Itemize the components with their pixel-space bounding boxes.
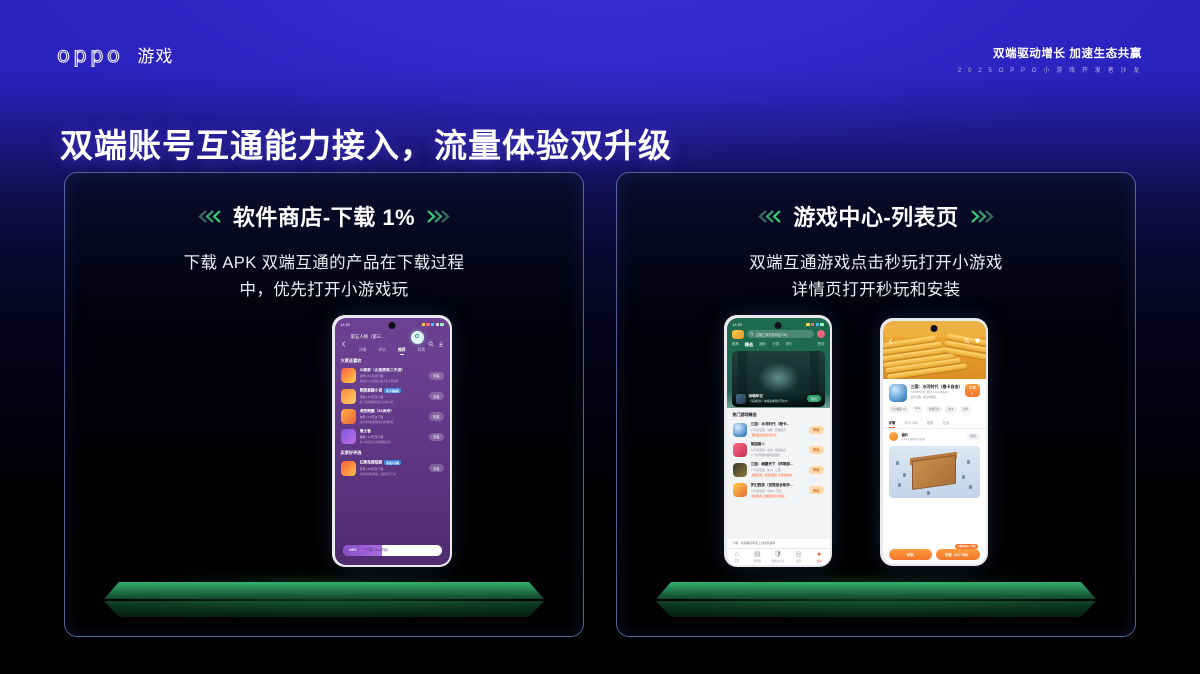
tab-category[interactable]: 分类 xyxy=(772,342,779,347)
app-icon xyxy=(341,429,356,444)
banner-game-sub: 《深渊密码》神秘副本限时开启中 xyxy=(749,399,805,403)
bottom-navigation: ⌂首页 ▤游戏库 🛡游戏大玩家 ◎社区 ●我的 xyxy=(727,548,830,565)
oppo-logo: oppo xyxy=(57,43,123,67)
game-list-panel: 热门游戏精选 三国：冰河时代（橙卡... 4.8万次安装 · 动作 · 经典回合… xyxy=(727,408,830,565)
install-label: 安装（317 MB） xyxy=(945,552,970,557)
card-app-store: 软件商店-下载 1% 下载 APK 双端互通的产品在下载过程 中，优先打开小游戏… xyxy=(64,172,584,637)
game-icon xyxy=(733,483,747,497)
brand-subtitle: 游戏 xyxy=(137,42,173,67)
game-tagline: 人气新作限时福利发放中 xyxy=(751,453,806,457)
event-lockup: 双端驱动增长 加速生态共赢 2 0 2 5 O P P O 小 游 戏 开 发 … xyxy=(958,45,1142,74)
banner-text: 深暗年记 《深渊密码》神秘副本限时开启中 xyxy=(749,394,805,404)
game-meta: 梦幻西游（百搭回合制手... 7.5万次安装 · MMO · 回合 新资料片 上… xyxy=(751,483,806,498)
store-section-heading-2: 买家好评选 xyxy=(335,447,450,458)
promo-row[interactable]: 福利 1.1千名玩家正在秒玩 秒玩 xyxy=(883,429,986,445)
game-meta: 美国猎人 9.2万次安装 · 射击 · 模拟生存 人气新作限时福利发放中 xyxy=(751,442,806,457)
pedestal-left xyxy=(65,570,583,637)
game-tagline: 新资料片 上线即送万元豪礼 xyxy=(751,494,806,498)
promo-sub: 1.1千名玩家正在秒玩 xyxy=(902,437,963,441)
phone-game-center: 14:53 主播之间的游戏这么玩 xyxy=(724,315,832,567)
app-sub: 策略 | 1.2万次下载 xyxy=(360,435,426,439)
game-row[interactable]: 美国猎人 9.2万次安装 · 射击 · 模拟生存 人气新作限时福利发放中 秒玩 xyxy=(727,440,830,460)
detail-game-name: 三国：冰河时代（橙卡自由） xyxy=(911,384,962,389)
card-description-right: 双端互通游戏点击秒玩打开小游戏 详情页打开秒玩和安装 xyxy=(617,250,1135,303)
detail-app-info: 三国：冰河时代（橙卡自由） 2025年5月9日更新 1.84 GB版本 官方正版… xyxy=(883,379,986,405)
play-button[interactable]: 秒玩 xyxy=(809,446,823,454)
tab-recommend[interactable]: 推荐 xyxy=(927,420,934,425)
game-row[interactable]: 三国：横霸天下（同萌游... 6.7万次安装 · SLG · 三国 新服开启，双… xyxy=(727,460,830,480)
app-sub2: 热血武斗派风格沙盒手机卡牌游戏 xyxy=(360,379,426,383)
welfare-icon xyxy=(889,432,898,441)
community-icon: ◎ xyxy=(788,551,809,559)
store-app-row[interactable]: 红果免费短剧新用户必看 影音 | 9.8万次下载 海量短剧免费看，追剧停不下来 … xyxy=(335,458,450,479)
app-badge: 新手领福利 xyxy=(384,388,401,393)
screenshot-building xyxy=(912,455,956,490)
game-tagline: 新服开启，双倍资源！全服狂欢中 xyxy=(751,473,806,477)
rating-label: 分 xyxy=(969,391,975,395)
cta-bubble: 小游戏 秒玩 0 等待 xyxy=(955,544,977,549)
game-name: 三国：横霸天下（同萌游... xyxy=(751,462,806,467)
tag-chip[interactable]: 橙卡 xyxy=(945,406,956,413)
camera-notch xyxy=(775,322,782,329)
card-header-right: 游戏中心-列表页 xyxy=(617,200,1135,232)
game-sub: 7.5万次安装 · MMO · 回合 xyxy=(751,489,806,493)
app-sub2: 海量短剧免费看，追剧停不下来 xyxy=(360,472,426,476)
tab-review[interactable]: 评价 426 xyxy=(904,420,917,425)
app-sub2: 多人在线实时竞技策略对战 xyxy=(360,440,426,444)
tag-chip[interactable]: SLG xyxy=(912,406,923,413)
search-icon xyxy=(750,332,754,336)
game-row[interactable]: 梦幻西游（百搭回合制手... 7.5万次安装 · MMO · 回合 新资料片 上… xyxy=(727,480,830,500)
slide-root: oppo 游戏 双端驱动增长 加速生态共赢 2 0 2 5 O P P O 小 … xyxy=(0,0,1200,674)
app-name: 红果免费短剧新用户必看 xyxy=(360,460,426,466)
slide-header: oppo 游戏 双端驱动增长 加速生态共赢 2 0 2 5 O P P O 小 … xyxy=(0,0,1200,110)
checkin-button[interactable]: 签到 xyxy=(817,342,824,347)
app-icon xyxy=(341,409,356,424)
chevron-right-icon xyxy=(426,210,452,223)
install-button[interactable]: 安装 xyxy=(429,392,443,400)
game-meta: 三国：冰河时代（橙卡... 4.8万次安装 · 动作 · 经典回合 预约送 新手… xyxy=(751,422,806,437)
app-icon xyxy=(341,461,356,476)
detail-game-sub2: 官方正版 · 内无付费点 xyxy=(911,395,962,399)
heart-icon[interactable] xyxy=(974,331,981,349)
search-icon[interactable] xyxy=(964,331,970,349)
promo-button[interactable]: 秒玩 xyxy=(967,433,980,440)
game-sub: 6.7万次安装 · SLG · 三国 xyxy=(751,468,806,472)
avatar[interactable] xyxy=(817,330,825,338)
game-center-tabs: 推荐 精选 福利 分类 排行 签到 xyxy=(727,339,830,351)
card-desc-line-2: 中，优先打开小游戏玩 xyxy=(65,277,583,304)
search-icon[interactable] xyxy=(428,334,434,340)
install-button[interactable]: 小游戏 秒玩 0 等待 安装（317 MB） xyxy=(936,549,980,560)
game-list-heading: 热门游戏精选 xyxy=(727,408,830,420)
banner-footer: 深暗年记 《深渊密码》神秘副本限时开启中 秒玩 xyxy=(732,391,825,407)
play-button[interactable]: 秒玩 xyxy=(809,466,823,474)
nav-label: 游戏大玩家 xyxy=(772,560,785,563)
back-arrow-icon[interactable] xyxy=(341,334,347,340)
game-tagline: 预约送 新手礼包礼包 xyxy=(751,433,806,437)
banner-game-icon xyxy=(736,394,746,404)
nav-item-profile[interactable]: ●我的 xyxy=(809,551,830,563)
phone-app-store: 14:53 第五人格（第三... O xyxy=(332,315,452,567)
pedestal-reflection xyxy=(656,601,1096,617)
tab-welfare[interactable]: 福利 xyxy=(759,342,766,347)
game-icon xyxy=(889,384,907,402)
chevron-left-icon xyxy=(756,210,782,223)
phone-screen-game-center: 14:53 主播之间的游戏这么玩 xyxy=(727,318,830,565)
app-name: 推王者 xyxy=(360,429,426,434)
card-title-right: 游戏中心-列表页 xyxy=(793,200,958,232)
tab-featured[interactable]: 精选 xyxy=(745,342,753,348)
detail-game-sub: 2025年5月9日更新 1.84 GB版本 xyxy=(911,390,962,394)
game-sub: 4.8万次安装 · 动作 · 经典回合 xyxy=(751,428,806,432)
pedestal-reflection xyxy=(104,601,544,617)
app-meta: 消愁跑酷（52英寺） 休闲 | 7.8万次下载 轻松休闲的跑酷闯关游戏体验 xyxy=(360,409,426,424)
card-desc-line-2: 详情页打开秒玩和安装 xyxy=(617,277,1135,304)
game-sub: 9.2万次安装 · 射击 · 模拟生存 xyxy=(751,448,806,452)
tab-detail[interactable]: 详情 xyxy=(889,420,896,425)
app-meta: 斗兽家（正版狼勇二手游） 动作 | 2.1万次下载 热血武斗派风格沙盒手机卡牌游… xyxy=(360,368,426,383)
status-icons xyxy=(806,323,823,326)
news-ticker[interactable]: 下期：冰冠精灵军团 上线重磅返场 xyxy=(727,539,830,548)
game-name: 美国猎人 xyxy=(751,442,806,447)
game-center-ui: 14:53 主播之间的游戏这么玩 xyxy=(727,318,830,565)
tab-detail[interactable]: 详情 xyxy=(359,348,367,353)
card-title-left: 软件商店-下载 1% xyxy=(233,200,415,232)
app-sub: 影音 | 9.8万次下载 xyxy=(360,467,426,471)
camera-notch xyxy=(389,322,396,329)
detail-toolbar xyxy=(883,331,986,349)
game-name: 三国：冰河时代（橙卡... xyxy=(751,422,806,427)
app-sub: 动作 | 2.1万次下载 xyxy=(360,374,426,378)
play-button[interactable]: 秒玩 xyxy=(809,486,823,494)
download-progress-bar[interactable]: 64% （下载 1% 可玩） xyxy=(343,545,442,556)
game-center-logo-icon xyxy=(732,330,744,339)
pedestal-top xyxy=(656,582,1096,599)
detail-meta: 三国：冰河时代（橙卡自由） 2025年5月9日更新 1.84 GB版本 官方正版… xyxy=(911,384,962,400)
promo-text: 福利 1.1千名玩家正在秒玩 xyxy=(902,432,963,442)
app-sub2: 轻松休闲的跑酷闯关游戏体验 xyxy=(360,420,426,424)
instant-play-button[interactable]: 秒玩 xyxy=(889,549,933,560)
tag-chip[interactable]: 卡牌 xyxy=(960,406,971,413)
profile-icon: ● xyxy=(809,551,830,559)
app-sub: 休闲 | 7.8万次下载 xyxy=(360,415,426,419)
app-icon xyxy=(341,389,356,404)
event-title: 双端驱动增长 加速生态共赢 xyxy=(958,45,1142,61)
card-desc-line-1: 下载 APK 双端互通的产品在下载过程 xyxy=(65,250,583,277)
phone-screen-game-detail: 三国：冰河时代（橙卡自由） 2025年5月9日更新 1.84 GB版本 官方正版… xyxy=(883,321,986,564)
tab-recommend[interactable]: 推荐 xyxy=(398,348,406,353)
nav-label: 首页 xyxy=(734,560,739,563)
nav-label: 游戏库 xyxy=(754,560,762,563)
promo-title: 福利 xyxy=(902,432,963,437)
game-tagline-text: 新服开启，双倍资源！全服狂欢中 xyxy=(751,474,793,477)
event-subtitle: 2 0 2 5 O P P O 小 游 戏 开 发 者 沙 龙 xyxy=(958,65,1142,74)
phone-game-detail: 三国：冰河时代（橙卡自由） 2025年5月9日更新 1.84 GB版本 官方正版… xyxy=(880,318,988,566)
app-meta: 燕居悬疑小说新手领福利 阅读 | 3.6万次下载 每个读者都能找到心仪的小说 xyxy=(360,388,426,404)
progress-label: （下载 1% 可玩） xyxy=(362,548,391,553)
store-page-title: 第五人格（第三... xyxy=(351,334,407,340)
detail-tabs: 详情 评价 426 推荐 社区 xyxy=(883,417,986,429)
install-button[interactable]: 安装 xyxy=(429,372,443,380)
nav-item-bigplayer[interactable]: 🛡游戏大玩家 xyxy=(768,551,789,563)
chevron-left-icon xyxy=(196,210,222,223)
featured-banner[interactable]: 深暗年记 《深渊密码》神秘副本限时开启中 秒玩 xyxy=(732,351,825,407)
back-arrow-icon[interactable] xyxy=(888,331,894,349)
download-icon[interactable] xyxy=(438,334,444,340)
home-icon: ⌂ xyxy=(727,551,748,559)
page-title: 双端账号互通能力接入，流量体验双升级 xyxy=(60,119,672,167)
game-icon xyxy=(733,443,747,457)
game-center-toolbar: 主播之间的游戏这么玩 xyxy=(727,329,830,339)
pedestal-top xyxy=(104,582,544,599)
store-section-heading: 大家还喜欢 xyxy=(335,355,450,366)
app-name-text: 燕居悬疑小说 xyxy=(360,389,383,393)
nav-item-community[interactable]: ◎社区 xyxy=(788,551,809,563)
install-button[interactable]: 安装 xyxy=(429,433,443,441)
status-icons xyxy=(422,323,444,326)
card-game-center: 游戏中心-列表页 双端互通游戏点击秒玩打开小游戏 详情页打开秒玩和安装 xyxy=(616,172,1136,637)
game-tagline-text: 预约送 新手礼包礼包 xyxy=(751,434,778,437)
library-icon: ▤ xyxy=(747,551,768,559)
rating-value: 3.8 xyxy=(969,386,975,391)
status-time: 14:53 xyxy=(733,323,743,327)
game-icon xyxy=(733,463,747,477)
app-meta: 推王者 策略 | 1.2万次下载 多人在线实时竞技策略对战 xyxy=(360,429,426,444)
tab-review[interactable]: 评价 xyxy=(378,348,386,353)
app-name: 消愁跑酷（52英寺） xyxy=(360,409,426,414)
rating-badge: 3.8 分 xyxy=(965,384,979,397)
app-name: 斗兽家（正版狼勇二手游） xyxy=(360,368,426,373)
store-app-row[interactable]: 消愁跑酷（52英寺） 休闲 | 7.8万次下载 轻松休闲的跑酷闯关游戏体验 安装 xyxy=(335,406,450,426)
store-toolbar: 第五人格（第三... O xyxy=(335,329,450,344)
install-button[interactable]: 安装 xyxy=(429,412,443,420)
cards-row: 软件商店-下载 1% 下载 APK 双端互通的产品在下载过程 中，优先打开小游戏… xyxy=(0,172,1200,650)
nav-label: 我的 xyxy=(817,560,822,563)
app-badge: 新用户必看 xyxy=(384,460,401,465)
banner-play-button[interactable]: 秒玩 xyxy=(807,395,820,402)
tag-chip[interactable]: 经典回合 xyxy=(926,406,942,413)
install-button[interactable]: 安装 xyxy=(429,464,443,472)
brand-lockup: oppo 游戏 xyxy=(57,42,173,67)
search-input[interactable]: 主播之间的游戏这么玩 xyxy=(747,330,814,338)
chevron-right-icon xyxy=(970,210,996,223)
game-meta: 三国：横霸天下（同萌游... 6.7万次安装 · SLG · 三国 新服开启，双… xyxy=(751,462,806,477)
app-sub: 阅读 | 3.6万次下载 xyxy=(360,395,426,399)
card-desc-line-1: 双端互通游戏点击秒玩打开小游戏 xyxy=(617,250,1135,277)
app-sub2: 每个读者都能找到心仪的小说 xyxy=(360,400,426,404)
card-description-left: 下载 APK 双端互通的产品在下载过程 中，优先打开小游戏玩 xyxy=(65,250,583,303)
app-name-text: 红果免费短剧 xyxy=(360,461,383,465)
search-placeholder: 主播之间的游戏这么玩 xyxy=(756,332,788,337)
detail-cta-row: 秒玩 小游戏 秒玩 0 等待 安装（317 MB） xyxy=(883,549,986,560)
game-name: 梦幻西游（百搭回合制手... xyxy=(751,483,806,488)
shield-icon: 🛡 xyxy=(768,551,789,559)
store-app-row[interactable]: 推王者 策略 | 1.2万次下载 多人在线实时竞技策略对战 安装 xyxy=(335,427,450,447)
card-header-left: 软件商店-下载 1% xyxy=(65,200,583,232)
app-name: 燕居悬疑小说新手领福利 xyxy=(360,388,426,394)
app-icon xyxy=(341,368,356,383)
oppo-badge-icon: O xyxy=(411,331,424,344)
screenshot-preview[interactable] xyxy=(889,446,980,498)
camera-notch xyxy=(931,325,938,332)
app-store-ui: 14:53 第五人格（第三... O xyxy=(335,318,450,565)
nav-label: 社区 xyxy=(796,560,801,563)
phone-screen-app-store: 14:53 第五人格（第三... O xyxy=(335,318,450,565)
store-app-row[interactable]: 斗兽家（正版狼勇二手游） 动作 | 2.1万次下载 热血武斗派风格沙盒手机卡牌游… xyxy=(335,366,450,386)
app-meta: 红果免费短剧新用户必看 影音 | 9.8万次下载 海量短剧免费看，追剧停不下来 xyxy=(360,460,426,476)
tab-similar[interactable]: 同类 xyxy=(418,348,426,353)
store-app-row[interactable]: 燕居悬疑小说新手领福利 阅读 | 3.6万次下载 每个读者都能找到心仪的小说 安… xyxy=(335,386,450,407)
game-row[interactable]: 三国：冰河时代（橙卡... 4.8万次安装 · 动作 · 经典回合 预约送 新手… xyxy=(727,420,830,440)
game-detail-ui: 三国：冰河时代（橙卡自由） 2025年5月9日更新 1.84 GB版本 官方正版… xyxy=(883,321,986,564)
nav-item-library[interactable]: ▤游戏库 xyxy=(747,551,768,563)
pedestal-right xyxy=(617,570,1135,637)
banner-game-name: 深暗年记 xyxy=(749,394,805,399)
status-time: 14:53 xyxy=(341,323,351,327)
tab-ranking[interactable]: 排行 xyxy=(785,342,792,347)
nav-item-home[interactable]: ⌂首页 xyxy=(727,551,748,563)
tag-chip[interactable]: 官方精品 V2 xyxy=(889,406,909,413)
game-tagline-text: 新资料片 上线即送万元豪礼 xyxy=(751,495,786,498)
detail-tag-chips: 官方精品 V2 SLG 经典回合 橙卡 卡牌 xyxy=(883,405,986,417)
tab-community[interactable]: 社区 xyxy=(942,420,949,425)
play-button[interactable]: 秒玩 xyxy=(809,426,823,434)
tab-recommend[interactable]: 推荐 xyxy=(732,342,739,347)
game-icon xyxy=(733,423,747,437)
progress-percent: 64% xyxy=(350,548,357,552)
